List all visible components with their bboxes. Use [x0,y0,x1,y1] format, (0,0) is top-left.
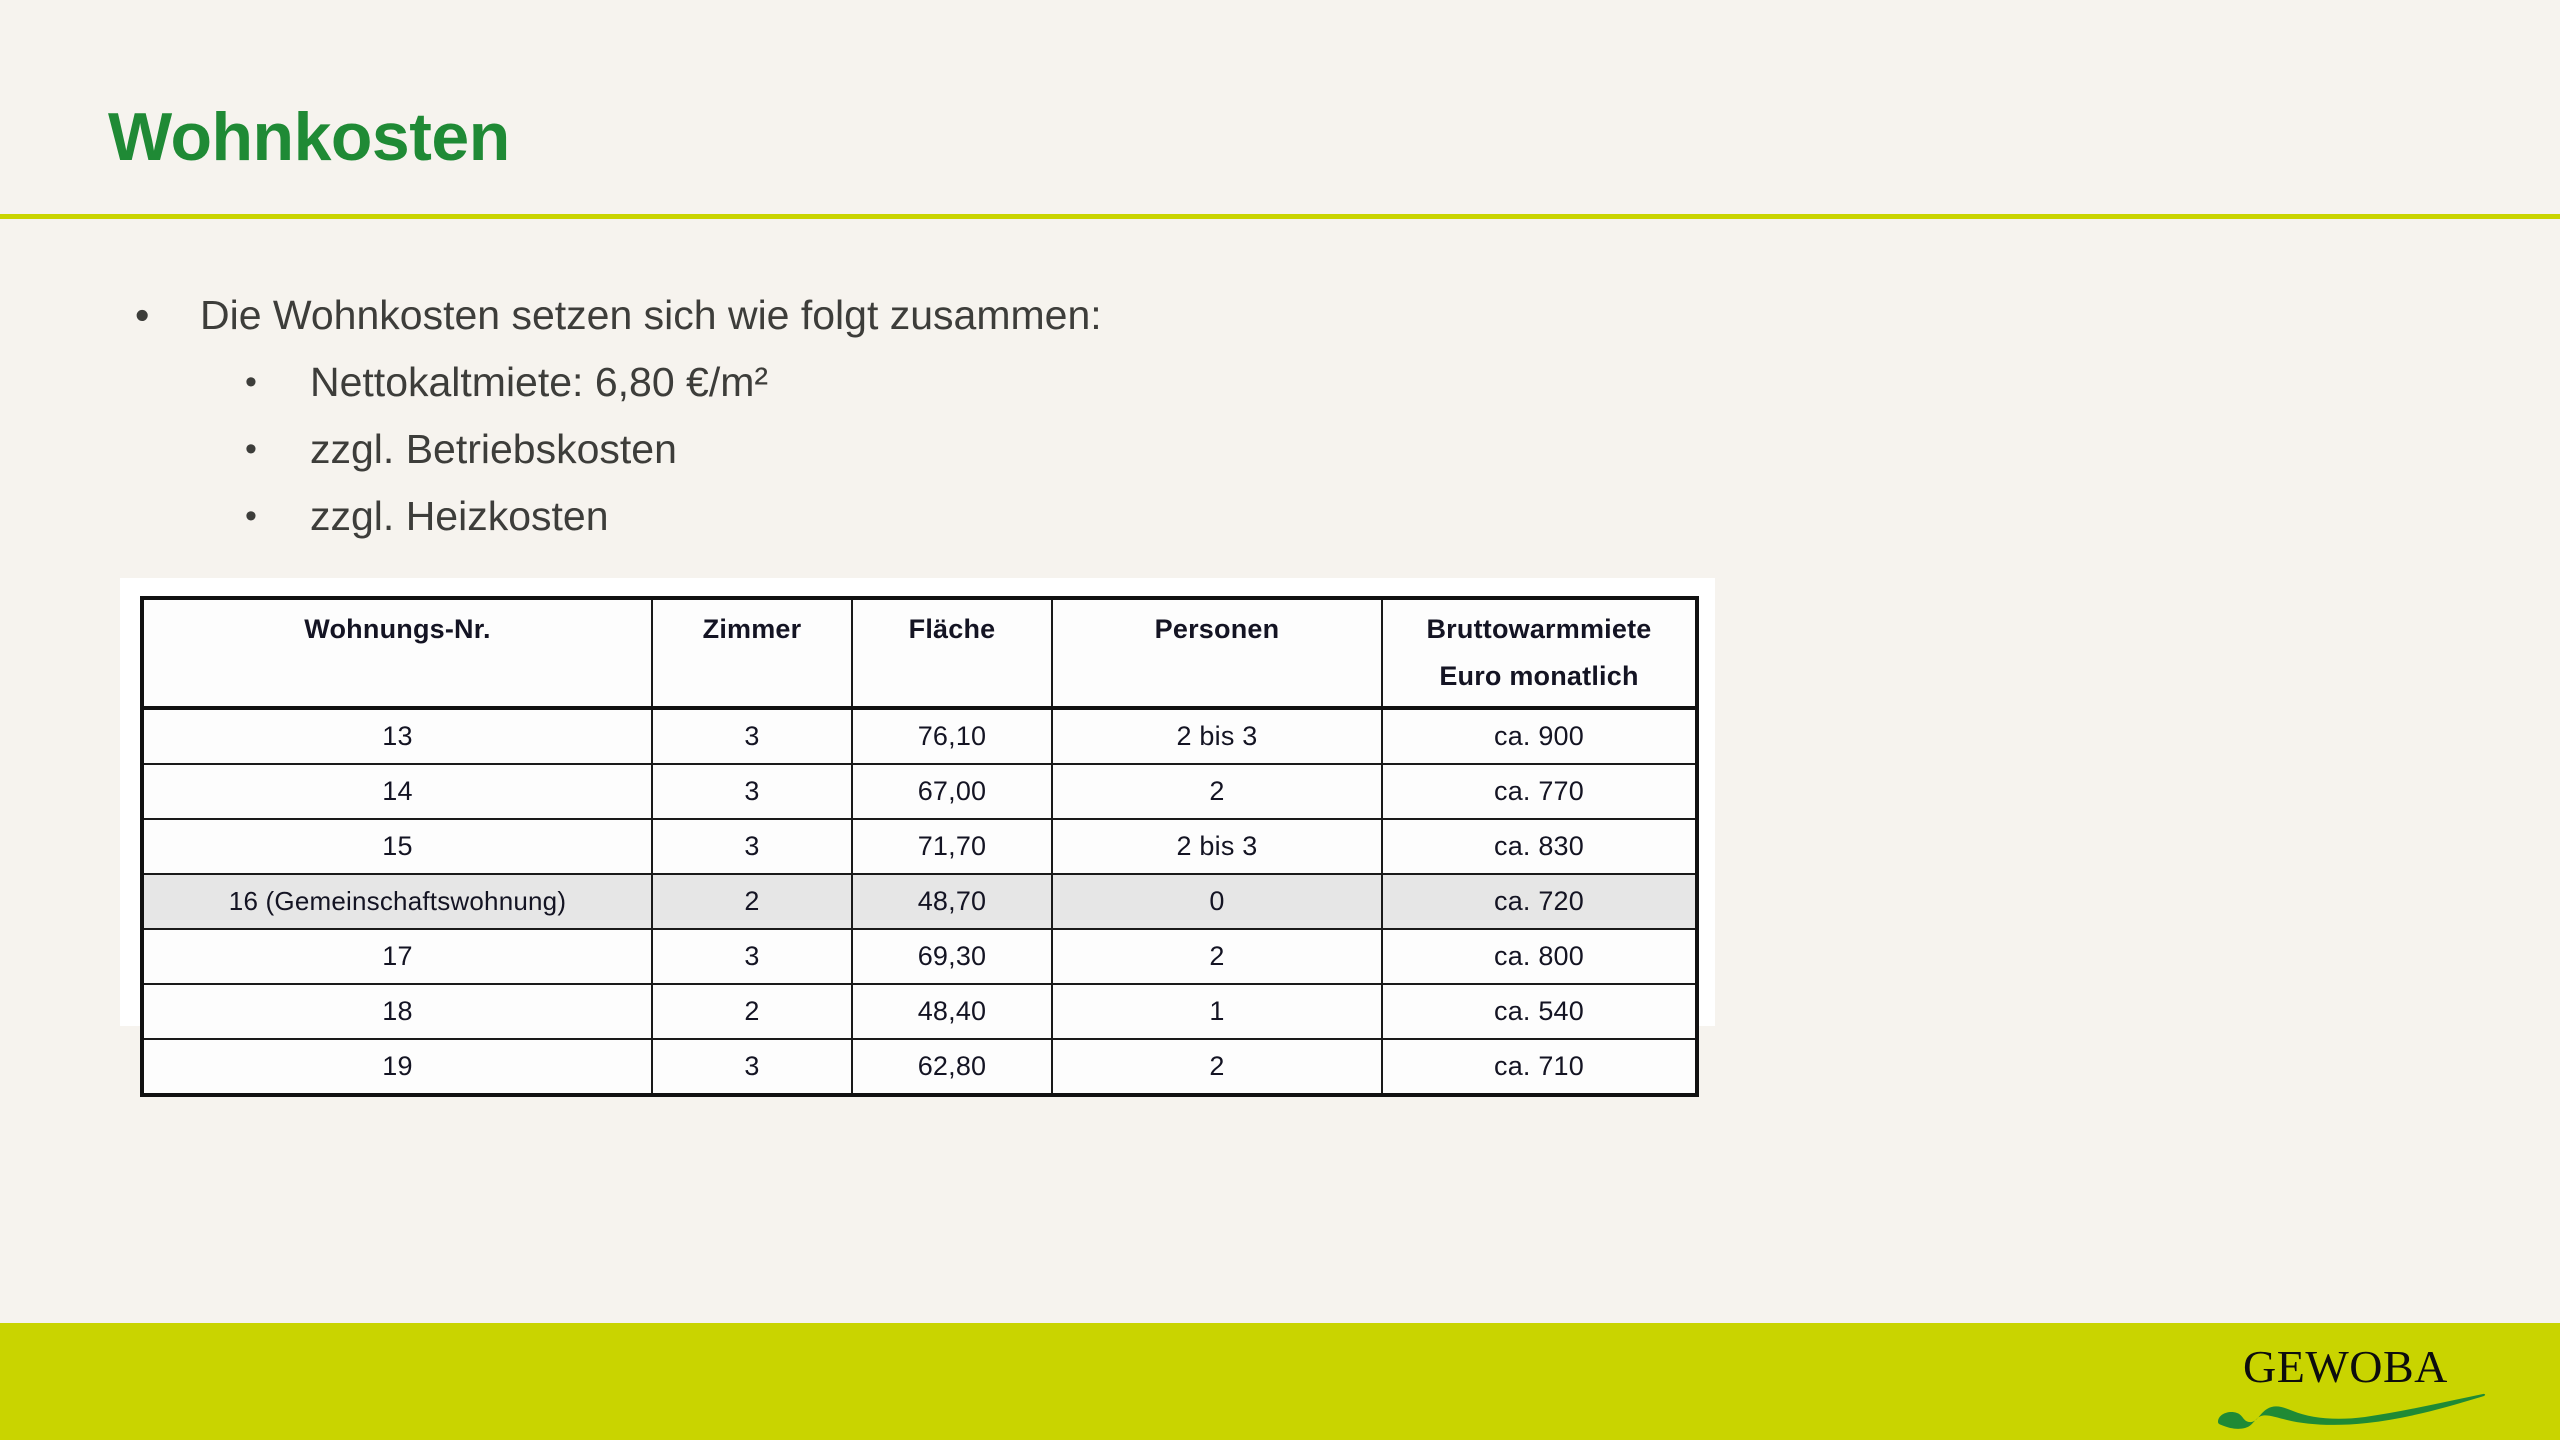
cell-bruttowarmmiete: ca. 720 [1382,874,1697,929]
header-text: Fläche [909,614,996,644]
cell-flaeche: 62,80 [852,1039,1052,1095]
cell-zimmer: 3 [652,1039,852,1095]
footer-bar [0,1323,2560,1440]
list-item-label: Die Wohnkosten setzen sich wie folgt zus… [200,292,1102,338]
apartment-table: Wohnungs-Nr. Zimmer Fläche Personen Brut… [140,596,1699,1097]
cell-flaeche: 48,70 [852,874,1052,929]
column-header-zimmer: Zimmer [652,598,852,708]
cell-wohnungs-nr: 18 [142,984,652,1039]
list-item-label: zzgl. Betriebskosten [310,426,677,472]
cell-flaeche: 76,10 [852,708,1052,764]
cell-personen: 0 [1052,874,1382,929]
cell-bruttowarmmiete: ca. 900 [1382,708,1697,764]
cell-personen: 2 [1052,1039,1382,1095]
cell-personen: 2 bis 3 [1052,819,1382,874]
bullet-dot-icon: • [135,282,149,349]
cell-flaeche: 71,70 [852,819,1052,874]
column-header-bruttowarmmiete: Bruttowarmmiete Euro monatlich [1382,598,1697,708]
page-title: Wohnkosten [0,96,2560,178]
header-text: Zimmer [703,614,802,644]
cell-zimmer: 3 [652,929,852,984]
title-divider-rule [0,214,2560,219]
cell-wohnungs-nr: 15 [142,819,652,874]
table-row: 17 3 69,30 2 ca. 800 [142,929,1697,984]
cell-flaeche: 67,00 [852,764,1052,819]
title-block: Wohnkosten [0,96,2560,178]
gewoba-logo: GEWOBA [2215,1338,2495,1434]
cell-bruttowarmmiete: ca. 800 [1382,929,1697,984]
cell-wohnungs-nr: 14 [142,764,652,819]
cell-zimmer: 3 [652,819,852,874]
list-item: • zzgl. Betriebskosten [0,416,2000,483]
table-row: 19 3 62,80 2 ca. 710 [142,1039,1697,1095]
bullet-dot-icon: • [245,483,257,550]
column-header-wohnungs-nr: Wohnungs-Nr. [142,598,652,708]
table-row: 15 3 71,70 2 bis 3 ca. 830 [142,819,1697,874]
list-item: • Nettokaltmiete: 6,80 €/m² [0,349,2000,416]
column-header-flaeche: Fläche [852,598,1052,708]
header-text: Wohnungs-Nr. [304,614,490,644]
cell-personen: 1 [1052,984,1382,1039]
swoosh-icon [2215,1378,2495,1430]
cell-wohnungs-nr: 17 [142,929,652,984]
cell-zimmer: 2 [652,874,852,929]
cell-wohnungs-nr: 19 [142,1039,652,1095]
header-text: Personen [1155,614,1280,644]
cell-flaeche: 48,40 [852,984,1052,1039]
bullet-dot-icon: • [245,416,257,483]
cell-zimmer: 3 [652,708,852,764]
column-header-personen: Personen [1052,598,1382,708]
cell-bruttowarmmiete: ca. 710 [1382,1039,1697,1095]
cell-flaeche: 69,30 [852,929,1052,984]
cell-zimmer: 2 [652,984,852,1039]
cell-bruttowarmmiete: ca. 770 [1382,764,1697,819]
table-body: 13 3 76,10 2 bis 3 ca. 900 14 3 67,00 2 … [142,708,1697,1095]
apartment-table-figure: Wohnungs-Nr. Zimmer Fläche Personen Brut… [120,578,1715,1026]
cell-bruttowarmmiete: ca. 830 [1382,819,1697,874]
header-subtext: Euro monatlich [1383,661,1695,692]
bullet-list: • Die Wohnkosten setzen sich wie folgt z… [0,282,2000,550]
cell-personen: 2 [1052,764,1382,819]
slide-canvas: Wohnkosten • Die Wohnkosten setzen sich … [0,0,2560,1440]
header-text: Bruttowarmmiete [1426,614,1651,644]
table-row: 14 3 67,00 2 ca. 770 [142,764,1697,819]
list-item: • Die Wohnkosten setzen sich wie folgt z… [0,282,2000,349]
table-header-row: Wohnungs-Nr. Zimmer Fläche Personen Brut… [142,598,1697,708]
table-row: 18 2 48,40 1 ca. 540 [142,984,1697,1039]
table-row-highlighted: 16 (Gemeinschaftswohnung) 2 48,70 0 ca. … [142,874,1697,929]
cell-wohnungs-nr: 16 (Gemeinschaftswohnung) [142,874,652,929]
cell-zimmer: 3 [652,764,852,819]
cell-personen: 2 bis 3 [1052,708,1382,764]
cell-wohnungs-nr: 13 [142,708,652,764]
bullet-dot-icon: • [245,349,257,416]
list-item: • zzgl. Heizkosten [0,483,2000,550]
cell-bruttowarmmiete: ca. 540 [1382,984,1697,1039]
list-item-label: Nettokaltmiete: 6,80 €/m² [310,359,768,405]
table-row: 13 3 76,10 2 bis 3 ca. 900 [142,708,1697,764]
cell-personen: 2 [1052,929,1382,984]
list-item-label: zzgl. Heizkosten [310,493,609,539]
